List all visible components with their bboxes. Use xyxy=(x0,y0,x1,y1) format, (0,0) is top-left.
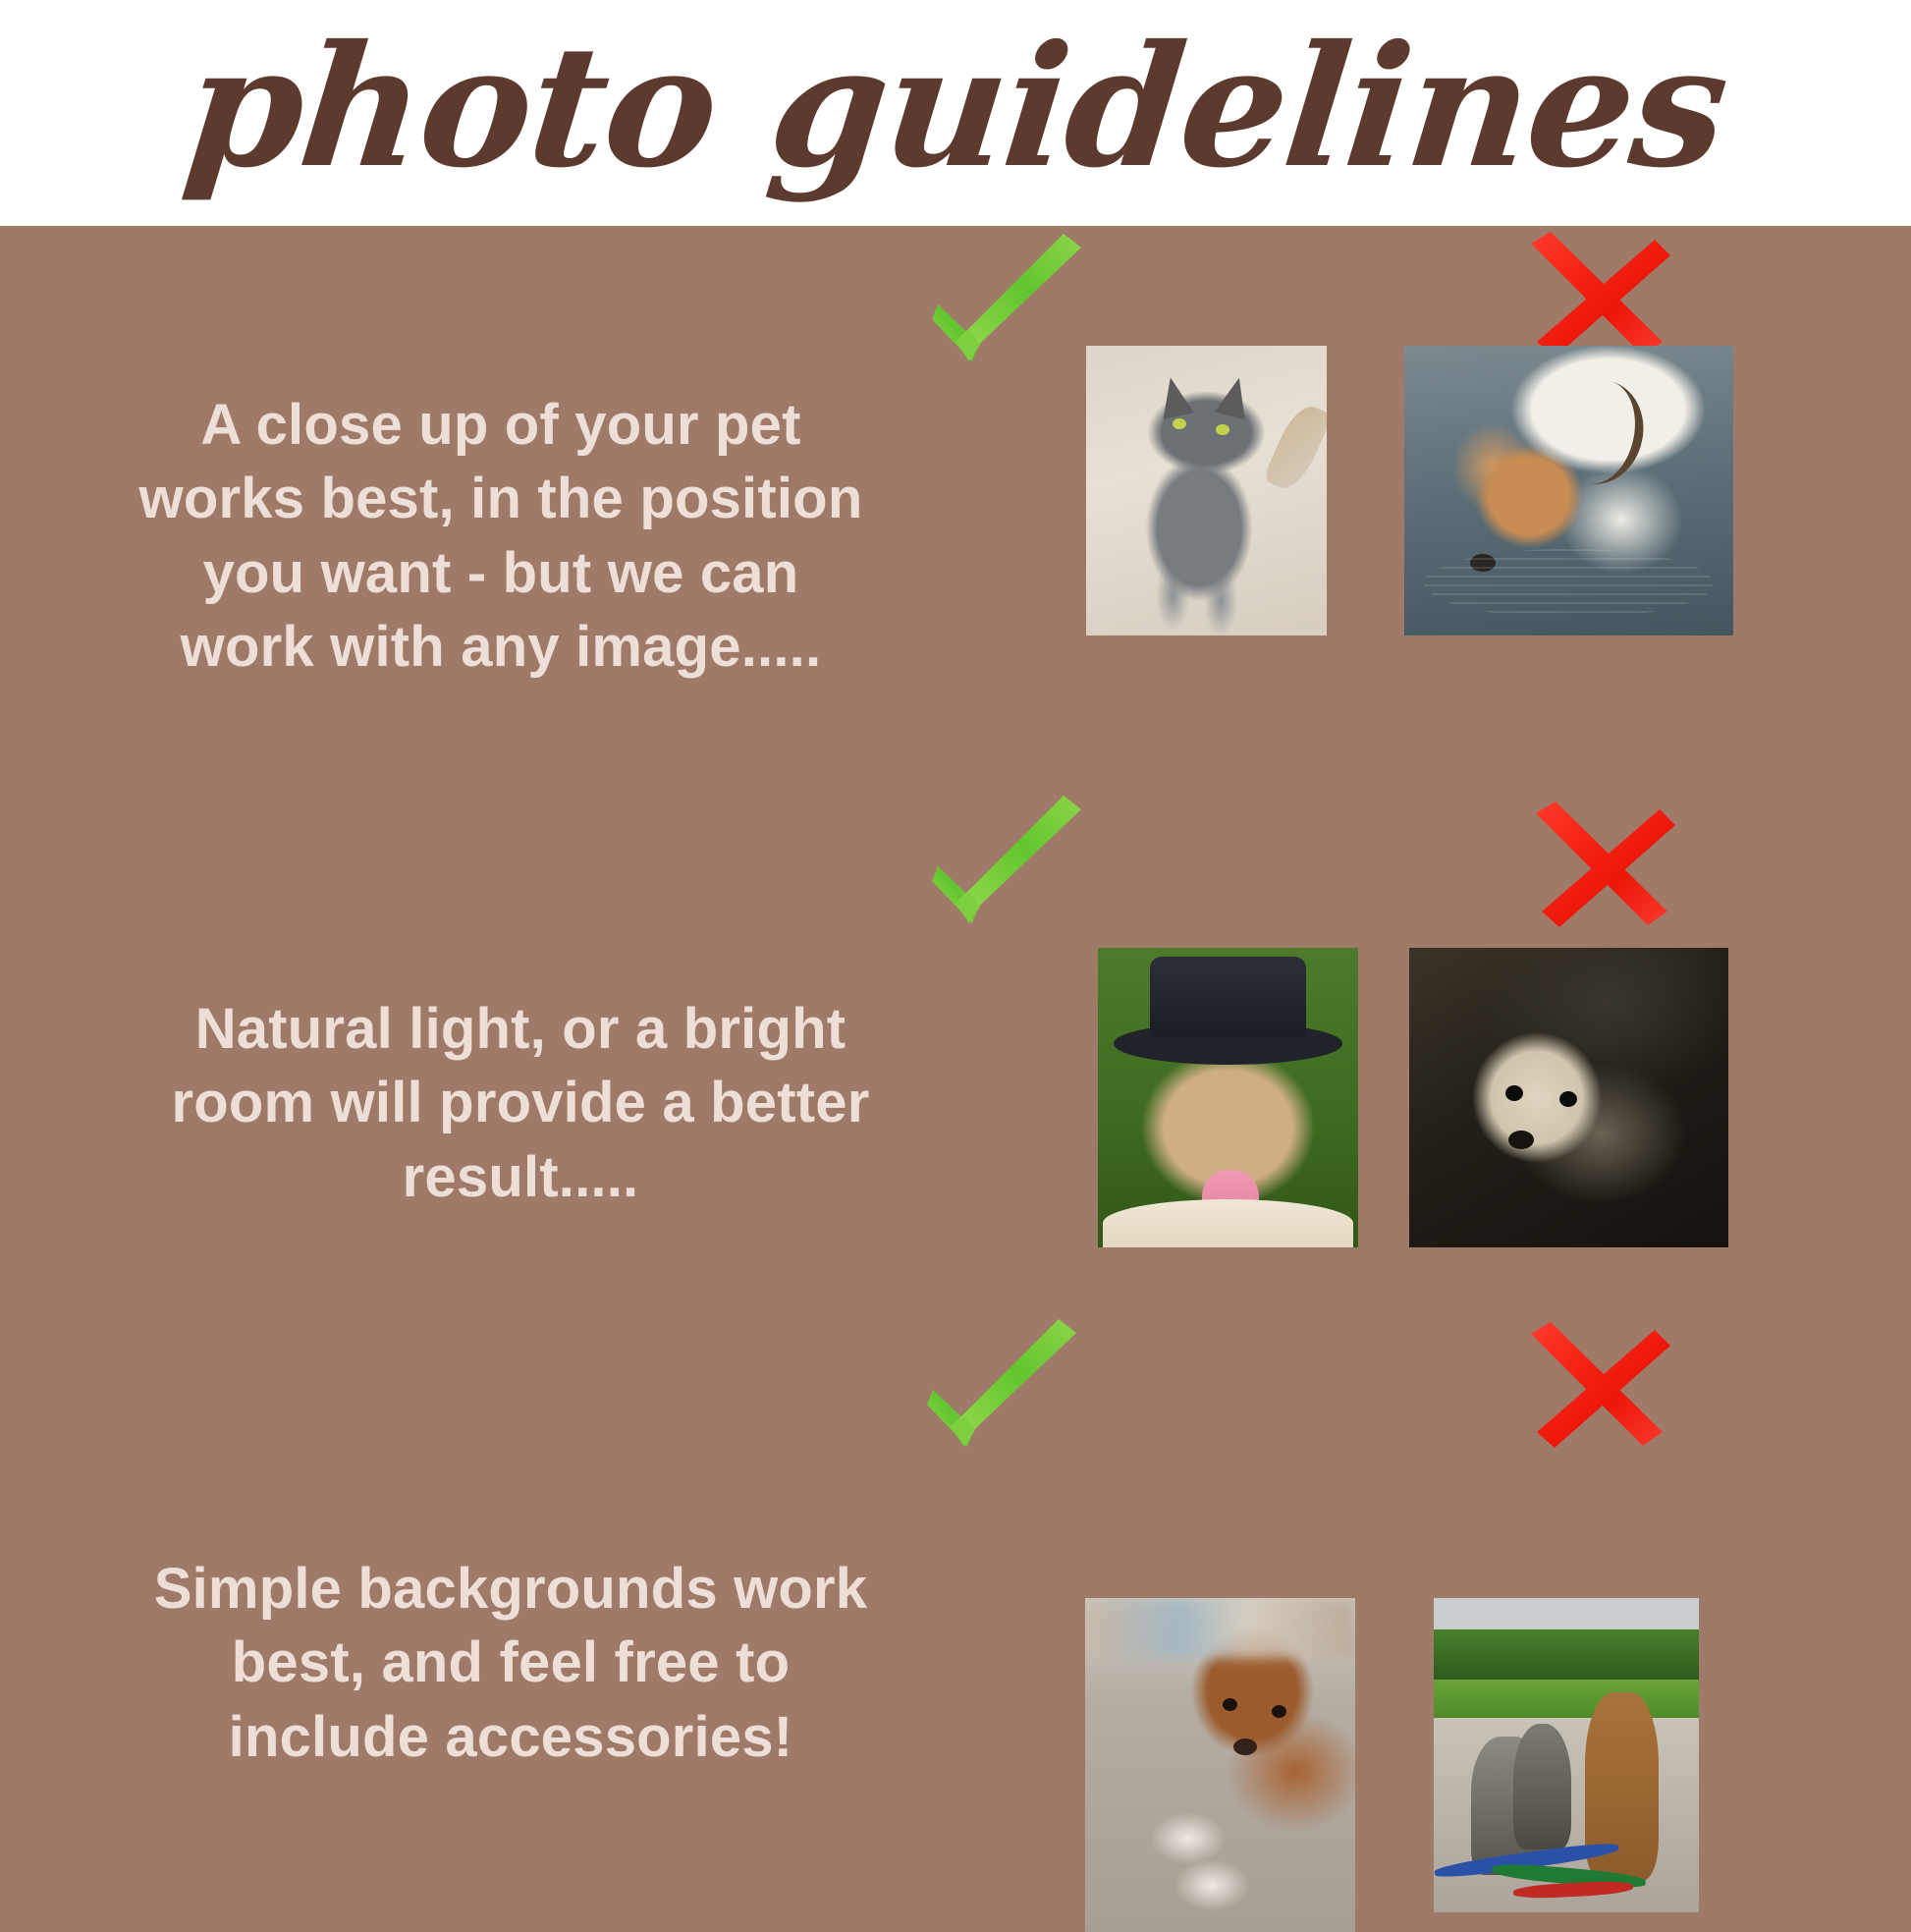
guideline-row-background: Simple backgrounds work best, and feel f… xyxy=(0,1331,1911,1911)
guideline-text-background: Simple backgrounds work best, and feel f… xyxy=(69,1552,953,1774)
example-photo-bad-background xyxy=(1434,1598,1699,1912)
page-title: photo guidelines xyxy=(179,24,1734,191)
example-photo-good-lighting xyxy=(1098,948,1358,1247)
check-mark-icon xyxy=(918,226,1100,373)
example-photo-bad-lighting xyxy=(1409,948,1728,1247)
check-mark-icon xyxy=(918,788,1100,935)
example-photo-bad-closeup xyxy=(1404,346,1733,635)
example-photo-good-closeup xyxy=(1086,346,1327,635)
header-band: photo guidelines xyxy=(0,0,1911,226)
guideline-row-closeup: A close up of your pet works best, in th… xyxy=(0,226,1911,796)
guideline-text-closeup: A close up of your pet works best, in th… xyxy=(93,388,908,685)
cross-mark-icon xyxy=(1507,1316,1689,1463)
guidelines-canvas: A close up of your pet works best, in th… xyxy=(0,226,1911,1911)
check-mark-icon xyxy=(913,1311,1095,1459)
guideline-row-lighting: Natural light, or a bright room will pro… xyxy=(0,796,1911,1331)
guideline-text-lighting: Natural light, or a bright room will pro… xyxy=(93,992,948,1214)
cross-mark-icon xyxy=(1512,796,1694,943)
example-photo-good-background xyxy=(1085,1598,1355,1932)
